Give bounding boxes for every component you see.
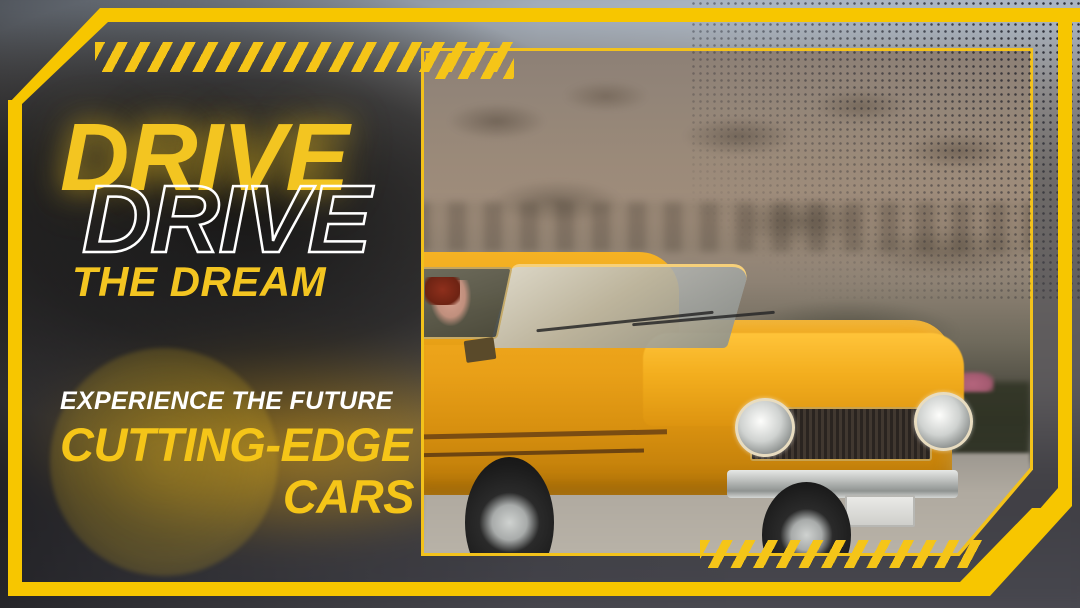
lower-copy-block: EXPERIENCE THE FUTURE CUTTING-EDGE CARS	[60, 388, 420, 522]
headline-outline: DRIVE	[82, 172, 370, 268]
car-bumper	[727, 470, 959, 498]
copy-kicker: EXPERIENCE THE FUTURE	[60, 388, 420, 414]
hero-photo	[424, 51, 1030, 553]
classic-car	[424, 252, 1000, 553]
car-license-plate	[845, 495, 914, 527]
car-windshield	[489, 264, 751, 348]
headline-block: DRIVE DRIVE THE DREAM	[60, 110, 440, 310]
copy-line-1: CUTTING-EDGE	[60, 420, 420, 470]
diagonal-stripes-photo-corner	[426, 53, 514, 79]
poster-canvas: DRIVE DRIVE THE DREAM EXPERIENCE THE FUT…	[0, 0, 1080, 608]
headline-subtitle: THE DREAM	[72, 258, 326, 306]
diagonal-stripes-bottom	[700, 540, 982, 568]
car-headlight-right	[914, 392, 973, 451]
tree-canopy-band	[424, 202, 1030, 252]
car-side-mirror	[464, 337, 496, 363]
copy-line-2: CARS	[60, 472, 420, 522]
car-headlight-left	[735, 398, 794, 457]
